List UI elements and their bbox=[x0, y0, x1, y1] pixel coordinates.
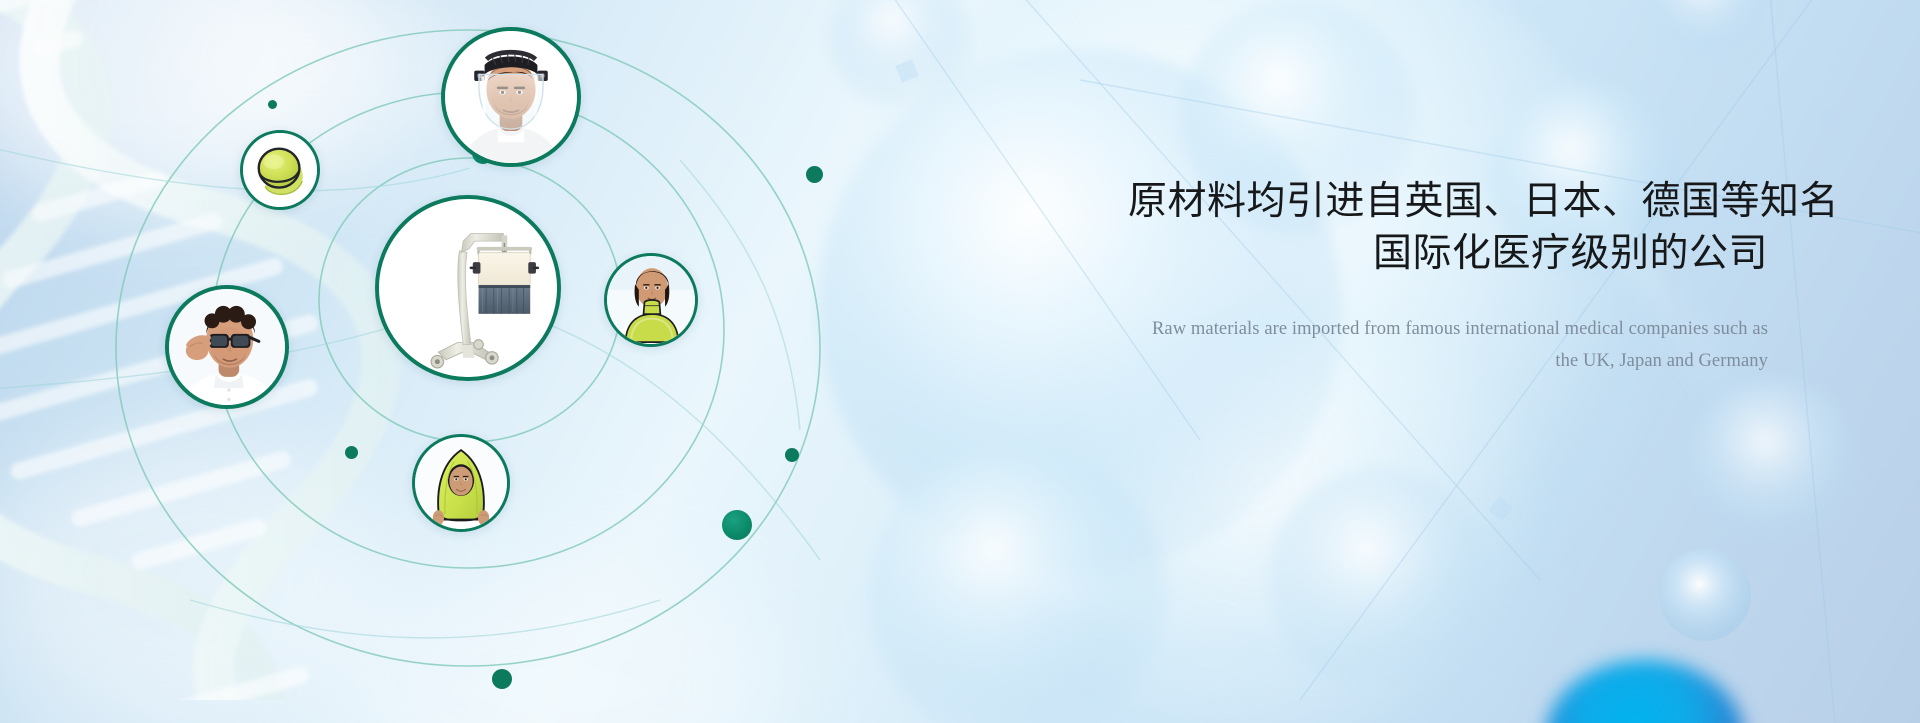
bubble-protective-cap[interactable] bbox=[240, 130, 320, 210]
cloud-blur-4 bbox=[330, 560, 790, 723]
accent-dot-4 bbox=[785, 448, 799, 462]
copy-block: 原材料均引进自英国、日本、德国等知名 国际化医疗级别的公司 Raw materi… bbox=[1128, 176, 1768, 378]
bubble-thyroid-collar[interactable] bbox=[604, 253, 698, 347]
leaded-glasses-photo bbox=[169, 289, 285, 405]
bubble-protective-hood[interactable] bbox=[412, 434, 510, 532]
protective-hood-photo bbox=[415, 437, 507, 529]
mobile-xray-barrier-photo bbox=[379, 199, 557, 377]
bubble-mobile-xray-barrier[interactable] bbox=[375, 195, 561, 381]
bubble-face-shield[interactable] bbox=[441, 27, 581, 167]
subtitle-line-1: Raw materials are imported from famous i… bbox=[1152, 319, 1768, 339]
face-shield-photo bbox=[445, 31, 577, 163]
subtitle-line-2: the UK, Japan and Germany bbox=[1128, 345, 1768, 378]
accent-dot-2 bbox=[806, 166, 823, 183]
accent-dot-5 bbox=[722, 510, 752, 540]
accent-dot-3 bbox=[345, 446, 358, 459]
blue-accent-sphere bbox=[1545, 660, 1745, 723]
accent-dot-6 bbox=[492, 669, 512, 689]
headline-line-1: 原材料均引进自英国、日本、德国等知名 bbox=[1128, 180, 1839, 223]
bubble-leaded-glasses[interactable] bbox=[165, 285, 289, 409]
headline: 原材料均引进自英国、日本、德国等知名 国际化医疗级别的公司 bbox=[1128, 176, 1768, 281]
hero-banner: 原材料均引进自英国、日本、德国等知名 国际化医疗级别的公司 Raw materi… bbox=[0, 0, 1920, 723]
cloud-blur-3 bbox=[0, 430, 390, 723]
accent-dot-7 bbox=[268, 100, 277, 109]
headline-line-2: 国际化医疗级别的公司 bbox=[1128, 228, 1768, 280]
thyroid-collar-photo bbox=[607, 256, 695, 344]
small-atom-sphere-icon bbox=[1640, 530, 1770, 660]
protective-cap-photo bbox=[243, 133, 317, 207]
subtitle: Raw materials are imported from famous i… bbox=[1128, 313, 1768, 379]
